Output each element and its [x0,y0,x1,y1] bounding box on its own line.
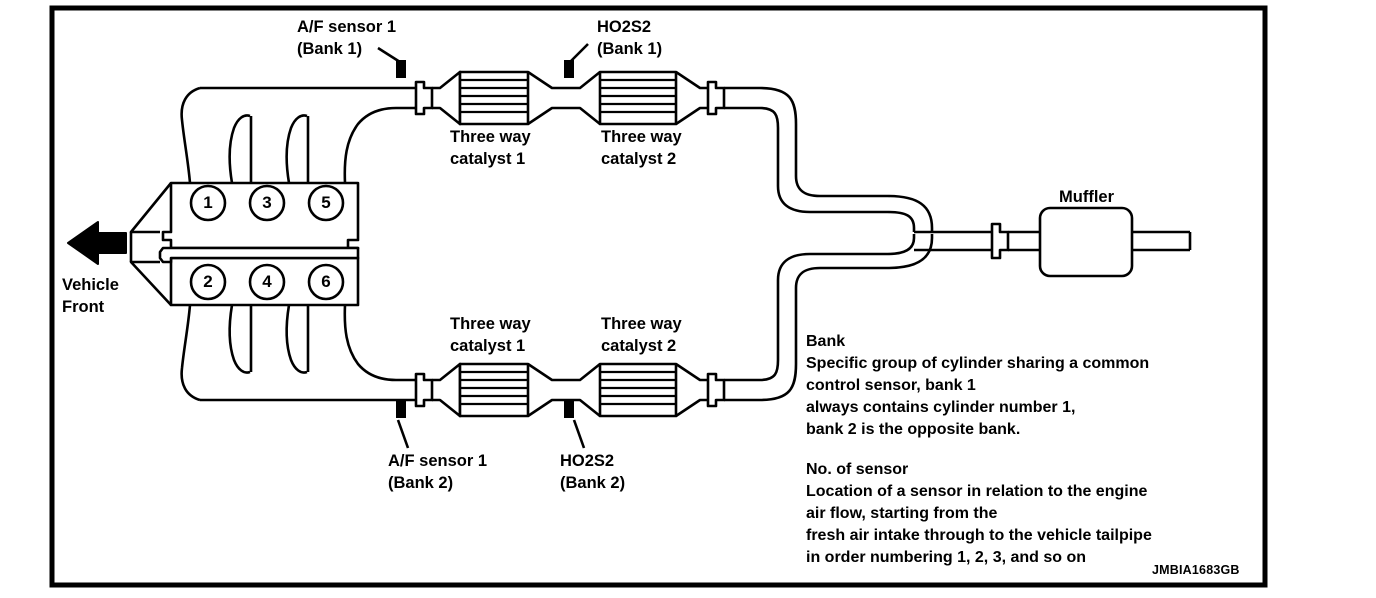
exhaust-system-diagram: 1 3 5 2 4 6 Vehicle Front A/F sensor 1 (… [0,0,1376,598]
catalyst-label-b2c2-line1: Three way [601,313,682,335]
bank2-flange-1 [416,374,432,406]
sensor-label-bank1-af-line2: (Bank 1) [297,38,362,60]
sensor-label-bank1-ho2s2-line2: (Bank 1) [597,38,662,60]
cylinder-number-3: 3 [252,188,282,218]
manifold-runner-b2-2 [230,305,250,373]
vehicle-front-label-line2: Front [62,296,104,318]
sensor-note-line-3: fresh air intake through to the vehicle … [806,525,1152,547]
sensor-note-line-4: in order numbering 1, 2, 3, and so on [806,547,1086,569]
muffler-label: Muffler [1059,186,1114,208]
manifold-runner-b2-4 [345,305,396,380]
sensor-label-bank2-af-line1: A/F sensor 1 [388,450,487,472]
sensor-af-bank1-icon [396,60,406,78]
sensor-label-bank1-af-line1: A/F sensor 1 [297,16,396,38]
bank1-cat2-outlet-cone-lower [676,108,708,124]
muffler-inlet-flange [992,224,1008,258]
manifold-runner-b2-1 [182,305,200,400]
manifold-runner-b1-1 [182,88,200,183]
y-junction-inner-bottom [888,234,914,254]
sensor-note-heading: No. of sensor [806,459,908,481]
catalyst-label-b2c1-line2: catalyst 1 [450,335,525,357]
bank1-cat2-outlet-cone [676,72,708,88]
bank2-cat2-outlet-cone [676,364,708,380]
bank1-downpipe-outer [724,88,888,196]
catalyst-label-b1c1-line2: catalyst 1 [450,148,525,170]
catalyst-label-b2c2-line2: catalyst 2 [601,335,676,357]
bank1-cat1-inlet-cone [432,72,460,124]
bank2-cat1-inlet-cone [432,364,460,416]
bank2-cat1-outlet-cone [528,364,600,380]
bank1-flange-2 [708,82,724,114]
bank-note-line-3: always contains cylinder number 1, [806,397,1075,419]
leader-bank2-ho2s2 [574,420,584,448]
leader-bank1-ho2s2 [570,44,588,62]
bank2-flange-2 [708,374,724,406]
sensor-ho2s2-bank1-icon [564,60,574,78]
cylinder-number-4: 4 [252,267,282,297]
bank1-flange-1 [416,82,432,114]
sensor-ho2s2-bank2-icon [564,400,574,418]
bank2-cat2-outlet-cone-lower [676,400,708,416]
engine-front-v-lower [131,262,171,305]
bank-note-heading: Bank [806,331,845,353]
sensor-af-bank2-icon [396,400,406,418]
manifold-runner-b1-3 [287,116,307,184]
sensor-note-line-2: air flow, starting from the [806,503,997,525]
vehicle-front-label-line1: Vehicle [62,274,119,296]
catalyst-label-b2c1-line1: Three way [450,313,531,335]
manifold-runner-b1-4 [345,108,396,183]
bank-note-line-4: bank 2 is the opposite bank. [806,419,1020,441]
engine-front-v [131,183,171,232]
sensor-label-bank2-af-line2: (Bank 2) [388,472,453,494]
cylinder-number-2: 2 [193,267,223,297]
muffler-body [1040,208,1132,276]
cylinder-number-5: 5 [311,188,341,218]
exhaust-system-drawing [0,0,1376,598]
catalyst-label-b1c1-line1: Three way [450,126,531,148]
y-junction-inner-top [888,212,914,232]
catalyst-label-b1c2-line1: Three way [601,126,682,148]
sensor-label-bank1-ho2s2-line1: HO2S2 [597,16,651,38]
manifold-runner-b2-3 [287,305,307,373]
bank1-cat1-outlet-cone-lower [528,108,600,124]
sensor-label-bank2-ho2s2-line1: HO2S2 [560,450,614,472]
leader-bank1-af [378,48,400,62]
bank-note-line-2: control sensor, bank 1 [806,375,976,397]
sensor-note-line-1: Location of a sensor in relation to the … [806,481,1147,503]
manifold-runner-b1-2 [230,116,250,184]
vehicle-front-arrow-icon [68,222,126,264]
bank-note-line-1: Specific group of cylinder sharing a com… [806,353,1149,375]
catalyst-label-b1c2-line2: catalyst 2 [601,148,676,170]
leader-bank2-af [398,420,408,448]
y-junction-outer-top [888,196,932,232]
cylinder-number-1: 1 [193,188,223,218]
sensor-label-bank2-ho2s2-line2: (Bank 2) [560,472,625,494]
cylinder-number-6: 6 [311,267,341,297]
figure-code: JMBIA1683GB [1152,563,1240,577]
